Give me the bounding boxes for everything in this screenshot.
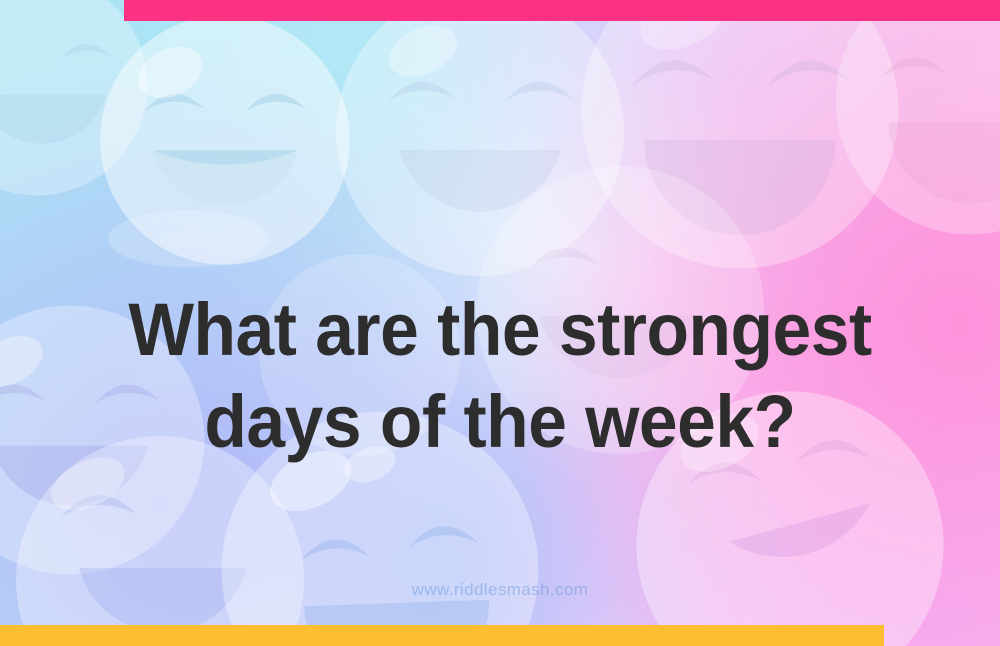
- top-accent-bar: [124, 0, 1000, 21]
- riddle-card: What are the strongest days of the week?…: [0, 0, 1000, 646]
- headline-line-2: days of the week?: [30, 376, 970, 468]
- bottom-accent-bar: [0, 625, 884, 646]
- laughing-emoji-icon: [0, 0, 152, 200]
- headline-line-1: What are the strongest: [30, 284, 970, 376]
- page-title: What are the strongest days of the week?: [30, 284, 970, 468]
- laughing-emoji-icon: [830, 0, 1000, 240]
- website-watermark: www.riddlesmash.com: [0, 580, 1000, 600]
